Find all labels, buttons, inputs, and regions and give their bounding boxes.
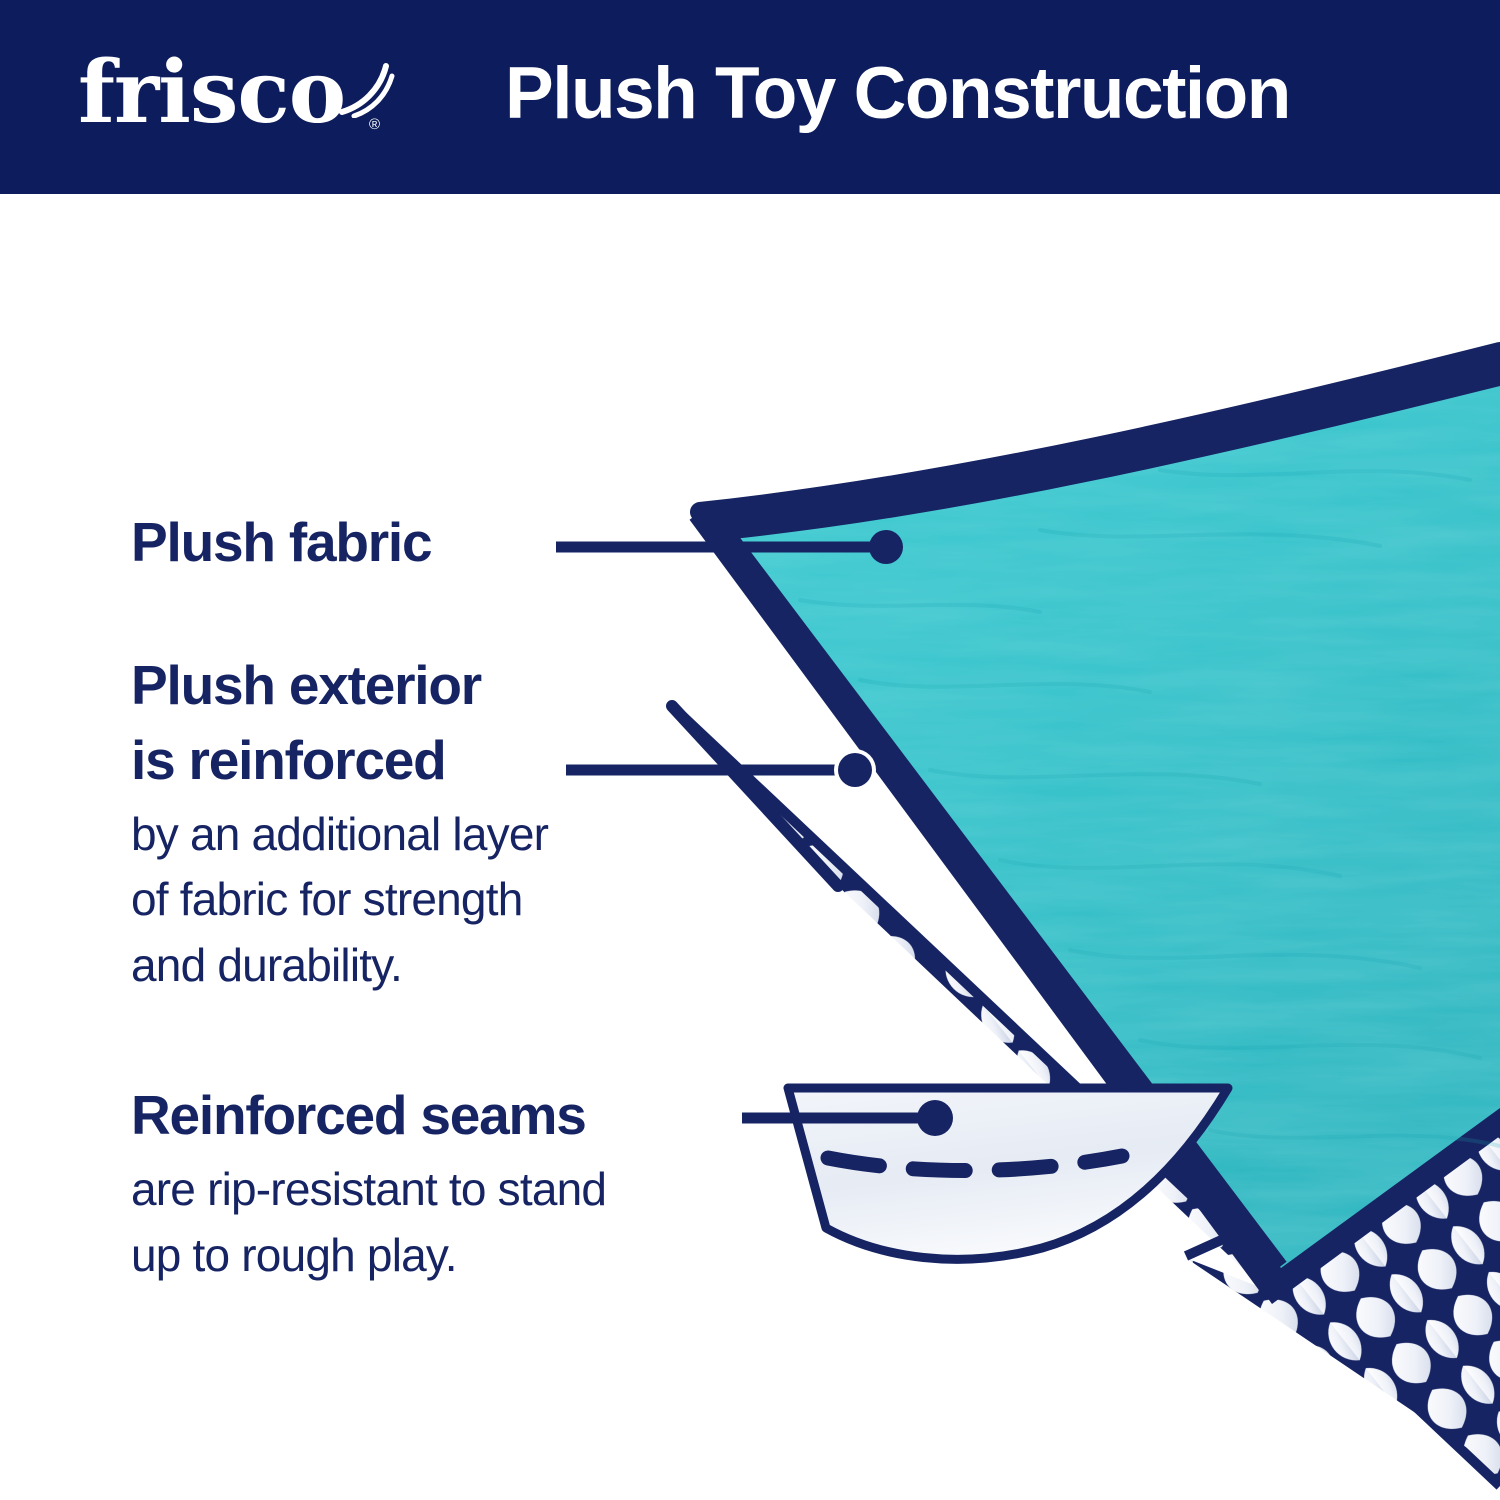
callout-reinforced-seams: Reinforced seams are rip-resistant to st…	[131, 1078, 811, 1288]
callout-plush-fabric: Plush fabric	[131, 505, 651, 580]
leader-dot-plush-fabric	[869, 530, 903, 564]
callout-plush-exterior: Plush exterior is reinforced by an addit…	[131, 648, 731, 999]
page-title: Plush Toy Construction	[505, 47, 1290, 142]
leader-dot-plush-exterior	[838, 753, 872, 787]
infographic-page: frisco ® Plush Toy Construction	[0, 0, 1500, 1500]
logo-swoosh-icon	[336, 62, 396, 118]
plush-fabric-layer	[700, 352, 1500, 1304]
mesh-reinforcement-layer	[600, 640, 1500, 1500]
callout-plush-exterior-body: by an additional layer of fabric for str…	[131, 802, 731, 999]
frisco-logo: frisco ®	[78, 44, 388, 148]
callout-plush-exterior-heading: Plush exterior is reinforced	[131, 648, 731, 798]
stitch-dashed-line	[828, 1156, 1122, 1171]
page-header: frisco ® Plush Toy Construction	[0, 0, 1500, 194]
leader-dot-reinforced-seams	[917, 1100, 953, 1136]
callout-reinforced-seams-body: are rip-resistant to stand up to rough p…	[131, 1157, 811, 1289]
leader-dot-plush-exterior-ring	[834, 749, 876, 791]
callout-plush-fabric-heading: Plush fabric	[131, 505, 651, 580]
fur-texture-streaks	[800, 470, 1500, 1146]
callout-reinforced-seams-heading: Reinforced seams	[131, 1078, 811, 1153]
seam-panel-layer	[788, 1088, 1228, 1259]
brand-wordmark: frisco	[78, 50, 345, 136]
registered-trademark-icon: ®	[369, 116, 380, 133]
